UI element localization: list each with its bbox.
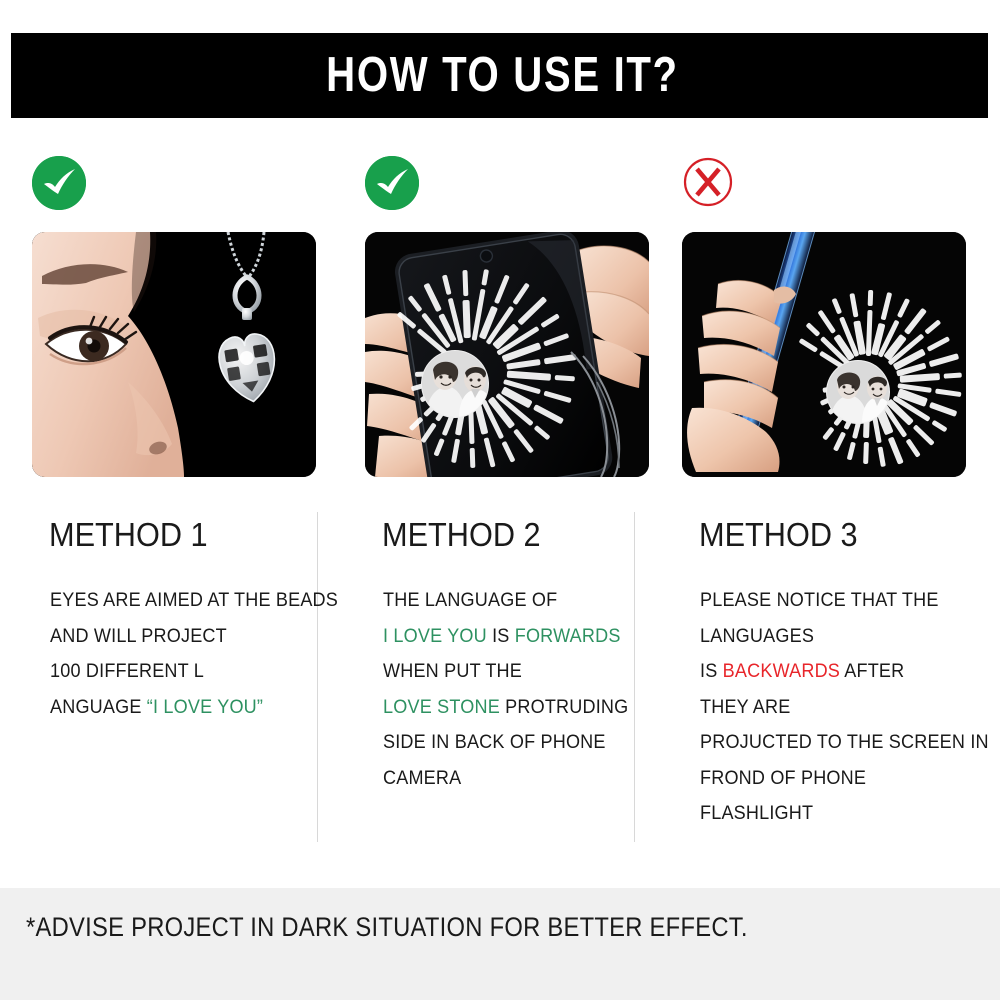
text-run: EYES ARE AIMED AT THE BEADS (50, 590, 338, 611)
method-title-2: METHOD 2 (382, 518, 541, 551)
text-run: ANGUAGE (50, 697, 147, 718)
method-column-1: METHOD 1 EYES ARE AIMED AT THE BEADSAND … (32, 140, 348, 880)
method-column-2: METHOD 2 THE LANGUAGE OFI LOVE YOU IS FO… (365, 140, 681, 880)
advice-note: *ADVISE PROJECT IN DARK SITUATION FOR BE… (26, 912, 748, 943)
text-run: AFTER (840, 661, 904, 682)
page-title: HOW TO USE IT? (321, 51, 679, 100)
cross-icon (682, 156, 734, 208)
method-body-line: AND WILL PROJECT (50, 619, 335, 655)
text-run: THEY ARE (700, 697, 790, 718)
text-run: PLEASE NOTICE THAT THE (700, 590, 939, 611)
eye-looking-at-pendant-photo (32, 232, 316, 477)
method-column-3: METHOD 3 PLEASE NOTICE THAT THELANGUAGES… (682, 140, 998, 880)
promo-infographic-page: HOW TO USE IT? (0, 0, 1000, 1000)
status-icon-2 (365, 156, 423, 214)
text-run: IS (487, 626, 515, 647)
method-body-line: FLASHLIGHT (700, 796, 985, 832)
method-body-line: I LOVE YOU IS FORWARDS (383, 619, 668, 655)
text-run: FROND OF PHONE (700, 768, 866, 789)
method-body-line: ANGUAGE “I LOVE YOU” (50, 690, 335, 726)
text-run: AND WILL PROJECT (50, 626, 227, 647)
method-body-line: PLEASE NOTICE THAT THE (700, 583, 985, 619)
method-body-line: 100 DIFFERENT L (50, 654, 335, 690)
method-body-line: IS BACKWARDS AFTER (700, 654, 985, 690)
method-body-line: PROJUCTED TO THE SCREEN IN (700, 725, 985, 761)
status-icon-1 (32, 156, 90, 214)
method-body-line: THE LANGUAGE OF (383, 583, 668, 619)
method-body-line: FROND OF PHONE (700, 761, 985, 797)
text-run: FLASHLIGHT (700, 803, 813, 824)
text-run: CAMERA (383, 768, 461, 789)
method-body-2: THE LANGUAGE OFI LOVE YOU IS FORWARDSWHE… (383, 583, 683, 796)
method-title-3: METHOD 3 (699, 518, 858, 551)
method-body-1: EYES ARE AIMED AT THE BEADSAND WILL PROJ… (50, 583, 350, 725)
header-banner: HOW TO USE IT? (11, 33, 988, 118)
method-body-line: SIDE IN BACK OF PHONE (383, 725, 668, 761)
check-icon (365, 156, 419, 210)
footer-band: *ADVISE PROJECT IN DARK SITUATION FOR BE… (0, 888, 1000, 1000)
text-run: “I LOVE YOU” (147, 697, 263, 718)
method-columns: METHOD 1 EYES ARE AIMED AT THE BEADSAND … (0, 140, 1000, 880)
phone-back-projection-photo (365, 232, 649, 477)
text-run: SIDE IN BACK OF PHONE (383, 732, 606, 753)
status-icon-3 (682, 156, 740, 214)
method-body-line: EYES ARE AIMED AT THE BEADS (50, 583, 335, 619)
text-run: 100 DIFFERENT L (50, 661, 204, 682)
text-run: IS (700, 661, 723, 682)
method-body-line: WHEN PUT THE (383, 654, 668, 690)
check-icon (32, 156, 86, 210)
method-body-3: PLEASE NOTICE THAT THELANGUAGESIS BACKWA… (700, 583, 1000, 832)
method-body-line: LOVE STONE PROTRUDING (383, 690, 668, 726)
text-run: WHEN PUT THE (383, 661, 522, 682)
text-run: THE LANGUAGE OF (383, 590, 557, 611)
text-run: I LOVE YOU (383, 626, 487, 647)
text-run: LANGUAGES (700, 626, 814, 647)
text-run: PROJUCTED TO THE SCREEN IN (700, 732, 989, 753)
phone-flashlight-projection-photo (682, 232, 966, 477)
method-body-line: LANGUAGES (700, 619, 985, 655)
text-run: PROTRUDING (500, 697, 628, 718)
text-run: LOVE STONE (383, 697, 500, 718)
method-body-line: THEY ARE (700, 690, 985, 726)
text-run: BACKWARDS (723, 661, 840, 682)
method-title-1: METHOD 1 (49, 518, 208, 551)
method-body-line: CAMERA (383, 761, 668, 797)
text-run: FORWARDS (515, 626, 621, 647)
